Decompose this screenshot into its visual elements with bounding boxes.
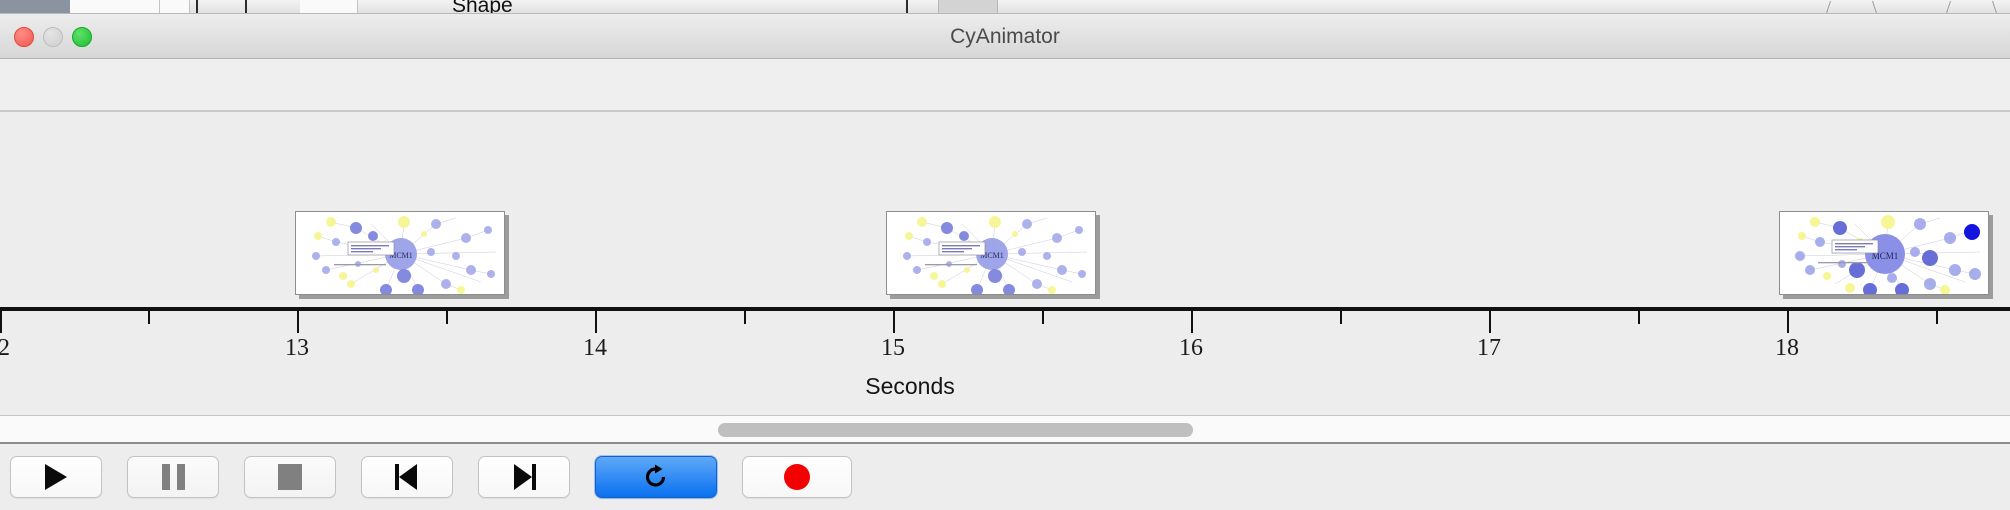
thumbnail-canvas: MCM1 <box>295 211 505 295</box>
axis-tick-major <box>1787 311 1789 333</box>
axis-tick-minor <box>1042 311 1044 324</box>
window-title: CyAnimator <box>0 14 2010 59</box>
background-app-label: Shape <box>452 0 513 14</box>
frame-toolbar: Clear All Frames <box>0 59 2010 111</box>
axis-tick-label: 13 <box>285 335 309 362</box>
axis-title-text: Seconds <box>865 373 955 399</box>
background-dark-block <box>0 0 70 14</box>
axis-tick-major <box>595 311 597 333</box>
loop-icon <box>642 463 670 491</box>
skip-forward-icon <box>511 464 537 490</box>
scrollbar-thumb[interactable] <box>718 423 1193 437</box>
background-segment <box>160 0 190 14</box>
cyanimator-window: Shape CyAnimator <box>0 0 2010 510</box>
timeline-panel[interactable]: MCM1 <box>0 111 2010 416</box>
axis-tick-major <box>297 311 299 333</box>
timeline-top-divider <box>0 111 2010 112</box>
axis-tick-major <box>893 311 895 333</box>
background-tick <box>196 0 198 14</box>
axis-tick-minor <box>1638 311 1640 324</box>
background-segment <box>70 0 160 14</box>
axis-tick-major <box>1489 311 1491 333</box>
axis-title: Seconds <box>0 373 2010 400</box>
background-chevron <box>1872 1 1877 14</box>
stop-button[interactable] <box>244 456 336 498</box>
axis-tick-minor <box>446 311 448 324</box>
skip-to-start-button[interactable] <box>361 456 453 498</box>
record-icon <box>784 464 810 490</box>
axis-tick-minor <box>1340 311 1342 324</box>
stop-icon <box>278 464 302 490</box>
axis-tick-label: 18 <box>1775 335 1799 362</box>
frame-thumbnail[interactable]: MCM1 <box>886 211 1100 299</box>
thumbnail-canvas: MCM1 <box>1779 211 1989 295</box>
axis-tick-major <box>1191 311 1193 333</box>
timeline-scrollbar[interactable] <box>0 416 2010 444</box>
record-button[interactable] <box>742 456 852 498</box>
skip-back-icon <box>394 464 420 490</box>
playback-bar: Animation Speed: <box>0 444 2010 510</box>
network-graph-icon: MCM1 <box>887 212 1096 295</box>
background-chevron <box>1946 1 1951 14</box>
thumbnail-canvas: MCM1 <box>886 211 1096 295</box>
skip-to-end-button[interactable] <box>478 456 570 498</box>
frame-thumbnail[interactable]: MCM1 <box>295 211 509 299</box>
timeline-axis <box>0 307 2010 311</box>
axis-tick-minor <box>744 311 746 324</box>
axis-tick-label: 14 <box>583 335 607 362</box>
frame-thumbnail[interactable]: MCM1 <box>1779 211 1993 299</box>
axis-tick-minor <box>1936 311 1938 324</box>
background-chevron <box>1992 1 1997 14</box>
background-tick <box>245 0 247 14</box>
axis-tick-minor <box>148 311 150 324</box>
play-button[interactable] <box>10 456 102 498</box>
background-segment <box>300 0 358 14</box>
pause-icon <box>162 464 185 490</box>
play-icon <box>45 464 67 490</box>
axis-tick-label: 2 <box>0 335 10 362</box>
axis-tick-label: 16 <box>1179 335 1203 362</box>
background-chevron <box>1826 1 1831 14</box>
axis-tick-label: 17 <box>1477 335 1501 362</box>
loop-button[interactable] <box>595 456 717 498</box>
axis-tick-label: 15 <box>881 335 905 362</box>
pause-button[interactable] <box>127 456 219 498</box>
background-app-strip: Shape <box>0 0 2010 14</box>
network-graph-icon: MCM1 <box>296 212 505 295</box>
background-gray-block <box>938 0 998 14</box>
background-tick <box>906 0 908 14</box>
title-bar[interactable]: CyAnimator <box>0 14 2010 59</box>
network-graph-icon: MCM1 <box>1780 212 1989 295</box>
axis-tick-major <box>0 311 2 333</box>
